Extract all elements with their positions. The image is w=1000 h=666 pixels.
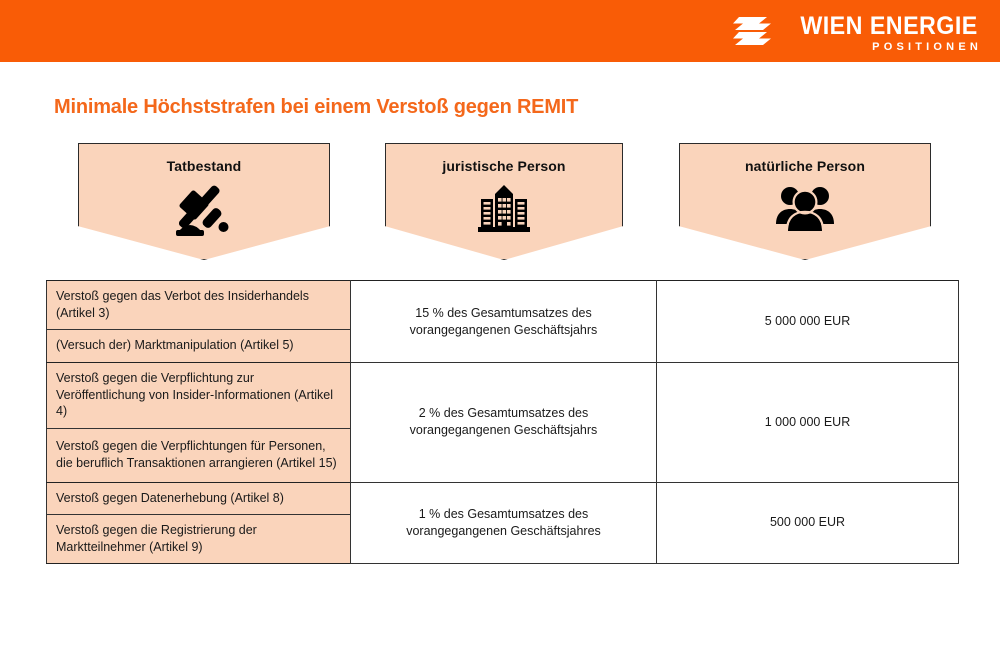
fact-cell: Verstoß gegen Datenerhebung (Artikel 8): [47, 482, 351, 515]
natural-person-penalty-cell: 5 000 000 EUR: [657, 281, 959, 363]
penalties-table: Verstoß gegen das Verbot des Insiderhand…: [46, 280, 959, 564]
brand-logo: WIEN ENERGIE POSITIONEN: [733, 13, 978, 55]
table-row: Verstoß gegen die Verpflichtung zur Verö…: [47, 363, 959, 429]
header-bar: WIEN ENERGIE POSITIONEN: [0, 0, 1000, 62]
table-row: Verstoß gegen Datenerhebung (Artikel 8) …: [47, 482, 959, 515]
office-building-icon: [478, 182, 530, 232]
fact-cell: (Versuch der) Marktmanipulation (Artikel…: [47, 330, 351, 363]
group-of-people-icon: [774, 182, 836, 232]
legal-person-penalty-cell: 15 % des Gesamtumsatzes des vorangegange…: [351, 281, 657, 363]
table-row: Verstoß gegen das Verbot des Insiderhand…: [47, 281, 959, 330]
legal-person-penalty-cell: 2 % des Gesamtumsatzes des vorangegangen…: [351, 363, 657, 483]
gavel-icon: [174, 182, 234, 238]
natural-person-penalty-cell: 500 000 EUR: [657, 482, 959, 564]
fact-cell: Verstoß gegen das Verbot des Insiderhand…: [47, 281, 351, 330]
banner-natuerliche-person-label: natürliche Person: [745, 158, 865, 174]
fact-cell: Verstoß gegen die Registrierung der Mark…: [47, 515, 351, 564]
wien-energie-flash-logo-icon: [733, 14, 777, 48]
banner-tatbestand-label: Tatbestand: [167, 158, 242, 174]
natural-person-penalty-cell: 1 000 000 EUR: [657, 363, 959, 483]
brand-wordmark: WIEN ENERGIE: [801, 13, 978, 39]
banner-natuerliche-person: natürliche Person: [679, 143, 931, 260]
fact-cell: Verstoß gegen die Verpflichtung zur Verö…: [47, 363, 351, 429]
banner-juristische-person-label: juristische Person: [442, 158, 565, 174]
page-title: Minimale Höchststrafen bei einem Verstoß…: [54, 96, 578, 119]
fact-cell: Verstoß gegen die Verpflichtungen für Pe…: [47, 428, 351, 482]
legal-person-penalty-cell: 1 % des Gesamtumsatzes des vorangegangen…: [351, 482, 657, 564]
brand-subline: POSITIONEN: [872, 40, 982, 55]
banner-juristische-person: juristische Person: [385, 143, 623, 260]
banner-tatbestand: Tatbestand: [78, 143, 330, 260]
